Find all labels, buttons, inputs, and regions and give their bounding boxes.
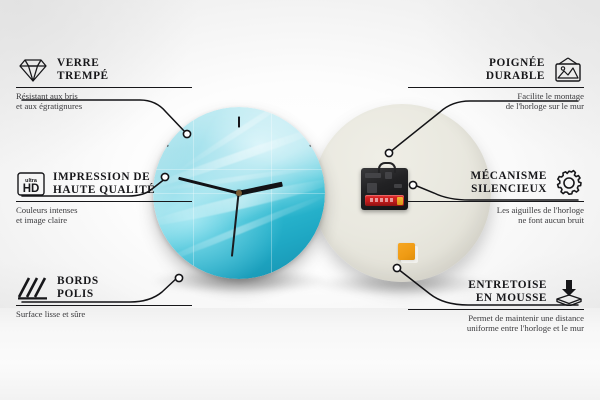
- feature-divider: [16, 201, 192, 202]
- feature-divider: [408, 201, 584, 202]
- picture-hanger-icon: [552, 56, 584, 84]
- feature-header: BORDS POLIS: [16, 275, 192, 302]
- feature-description: Couleurs intenses et image claire: [16, 205, 192, 226]
- feature-desc-line2: et image claire: [16, 215, 192, 225]
- feature-divider: [16, 305, 192, 306]
- feature-entretoise-en-mousse: ENTRETOISE EN MOUSSE Permet de maintenir…: [408, 278, 584, 334]
- mechanism-detail: [394, 184, 402, 188]
- feature-title: MÉCANISME SILENCIEUX: [471, 170, 548, 197]
- feature-title-line2: SILENCIEUX: [471, 183, 548, 196]
- feature-desc-line1: Permet de maintenir une distance: [408, 313, 584, 323]
- battery: [365, 195, 404, 206]
- feather-streak: [172, 107, 320, 177]
- gear-icon: [554, 168, 584, 198]
- mechanism-detail: [385, 172, 392, 179]
- feature-description: Résistant aux bris et aux égratignures: [16, 91, 192, 112]
- clock-mechanism: [361, 168, 408, 210]
- feature-description: Surface lisse et sûre: [16, 309, 192, 319]
- feature-title-line2: TREMPÉ: [57, 70, 109, 83]
- clock-center-cap: [236, 190, 242, 196]
- feature-title: ENTRETOISE EN MOUSSE: [468, 279, 547, 306]
- feature-impression-haute-qualite: ultra HD IMPRESSION DE HAUTE QUALITÉ Cou…: [16, 170, 192, 226]
- clock-tick: [238, 117, 240, 128]
- feature-divider: [408, 87, 584, 88]
- battery-positive-terminal: [397, 197, 403, 205]
- feature-title-line1: IMPRESSION DE: [53, 171, 155, 184]
- feature-title: IMPRESSION DE HAUTE QUALITÉ: [53, 171, 155, 198]
- feature-desc-line2: ne font aucun bruit: [408, 215, 584, 225]
- feature-desc-line2: uniforme entre l'horloge et le mur: [408, 323, 584, 333]
- feature-header: MÉCANISME SILENCIEUX: [408, 168, 584, 198]
- infographic-canvas: VERRE TREMPÉ Résistant aux bris et aux é…: [0, 0, 600, 400]
- mechanism-detail: [365, 173, 381, 178]
- feature-header: POIGNÉE DURABLE: [408, 56, 584, 84]
- feature-desc-line1: Couleurs intenses: [16, 205, 192, 215]
- feature-title-line1: BORDS: [57, 275, 99, 288]
- feature-bords-polis: BORDS POLIS Surface lisse et sûre: [16, 275, 192, 319]
- feature-description: Les aiguilles de l'horloge ne font aucun…: [408, 205, 584, 226]
- feature-desc-line1: Résistant aux bris: [16, 91, 192, 101]
- foam-spacer: [398, 243, 415, 260]
- feature-title-line2: EN MOUSSE: [468, 292, 547, 305]
- clock-tick: [162, 136, 169, 147]
- feature-divider: [408, 309, 584, 310]
- feature-header: ENTRETOISE EN MOUSSE: [408, 278, 584, 306]
- feature-verre-trempe: VERRE TREMPÉ Résistant aux bris et aux é…: [16, 56, 192, 112]
- feature-divider: [16, 87, 192, 88]
- feature-title-line2: HAUTE QUALITÉ: [53, 184, 155, 197]
- mechanism-detail: [367, 183, 377, 193]
- feature-desc-line1: Facilite le montage: [408, 91, 584, 101]
- foam-spacer-icon: [554, 278, 584, 306]
- feature-desc-line2: de l'horloge sur le mur: [408, 101, 584, 111]
- polished-edges-icon: [16, 275, 50, 301]
- feature-title: VERRE TREMPÉ: [57, 57, 109, 84]
- feature-desc-line2: et aux égratignures: [16, 101, 192, 111]
- feature-header: VERRE TREMPÉ: [16, 56, 192, 84]
- feature-desc-line1: Surface lisse et sûre: [16, 309, 192, 319]
- feature-mecanisme-silencieux: MÉCANISME SILENCIEUX Les aiguilles de l'…: [408, 168, 584, 226]
- feature-title: BORDS POLIS: [57, 275, 99, 302]
- feature-title: POIGNÉE DURABLE: [486, 57, 545, 84]
- feature-desc-line1: Les aiguilles de l'horloge: [408, 205, 584, 215]
- feature-title-line1: MÉCANISME: [471, 170, 548, 183]
- feature-description: Facilite le montage de l'horloge sur le …: [408, 91, 584, 112]
- diamond-icon: [16, 56, 50, 84]
- feature-title-line2: POLIS: [57, 288, 99, 301]
- feature-title-line1: POIGNÉE: [486, 57, 545, 70]
- feature-title-line1: ENTRETOISE: [468, 279, 547, 292]
- feature-description: Permet de maintenir une distance uniform…: [408, 313, 584, 334]
- clock-tick: [309, 136, 316, 147]
- battery-label: [370, 198, 395, 202]
- feature-poignee-durable: POIGNÉE DURABLE Facilite le montage de l…: [408, 56, 584, 112]
- feature-title-line2: DURABLE: [486, 70, 545, 83]
- ultra-hd-icon: ultra HD: [16, 170, 46, 198]
- ultra-hd-icon-main-label: HD: [23, 183, 40, 195]
- feature-title-line1: VERRE: [57, 57, 109, 70]
- feature-header: ultra HD IMPRESSION DE HAUTE QUALITÉ: [16, 170, 192, 198]
